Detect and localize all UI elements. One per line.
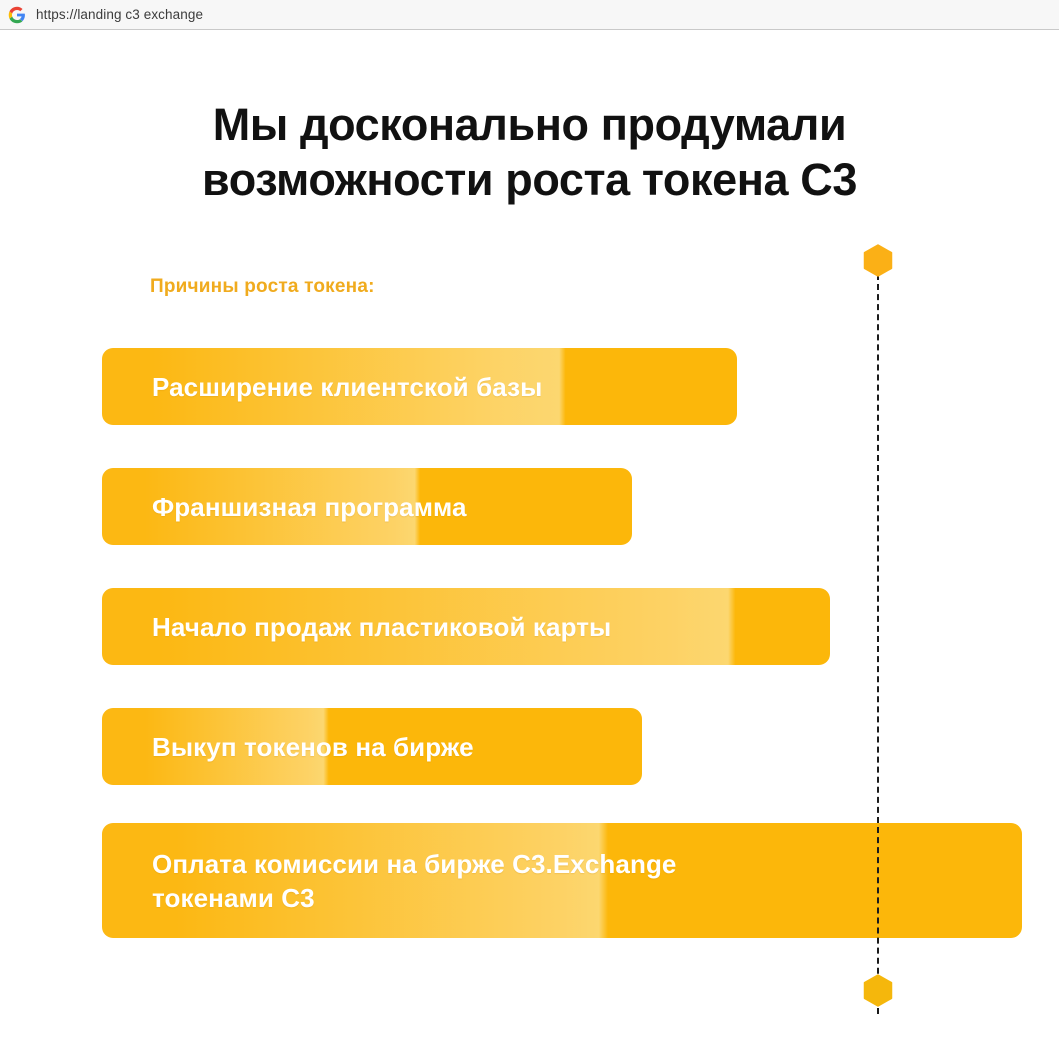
landing-page-canvas: Мы досконально продумали возможности рос…: [0, 31, 1059, 1037]
url-text: https://landing c3 exchange: [36, 7, 203, 22]
reason-bar-1[interactable]: Расширение клиентской базы: [102, 348, 737, 425]
hexagon-marker-bottom-icon: [863, 974, 893, 1007]
reasons-bar-list: Расширение клиентской базы Франшизная пр…: [0, 31, 1059, 1037]
hexagon-marker-top-icon: [863, 244, 893, 277]
timeline-dashed-line: [877, 274, 879, 1014]
reason-bar-3[interactable]: Начало продаж пластиковой карты: [102, 588, 830, 665]
reason-bar-2[interactable]: Франшизная программа: [102, 468, 632, 545]
browser-address-bar[interactable]: https://landing c3 exchange: [0, 0, 1059, 30]
google-g-icon: [8, 6, 26, 24]
reason-bar-2-label: Франшизная программа: [152, 490, 467, 524]
reason-bar-3-label: Начало продаж пластиковой карты: [152, 610, 611, 644]
reason-bar-4[interactable]: Выкуп токенов на бирже: [102, 708, 642, 785]
reason-bar-5[interactable]: Оплата комиссии на бирже C3.Exchange ток…: [102, 823, 1022, 938]
reason-bar-4-label: Выкуп токенов на бирже: [152, 730, 474, 764]
reason-bar-1-label: Расширение клиентской базы: [152, 370, 542, 404]
reason-bar-5-label: Оплата комиссии на бирже C3.Exchange ток…: [152, 847, 677, 915]
